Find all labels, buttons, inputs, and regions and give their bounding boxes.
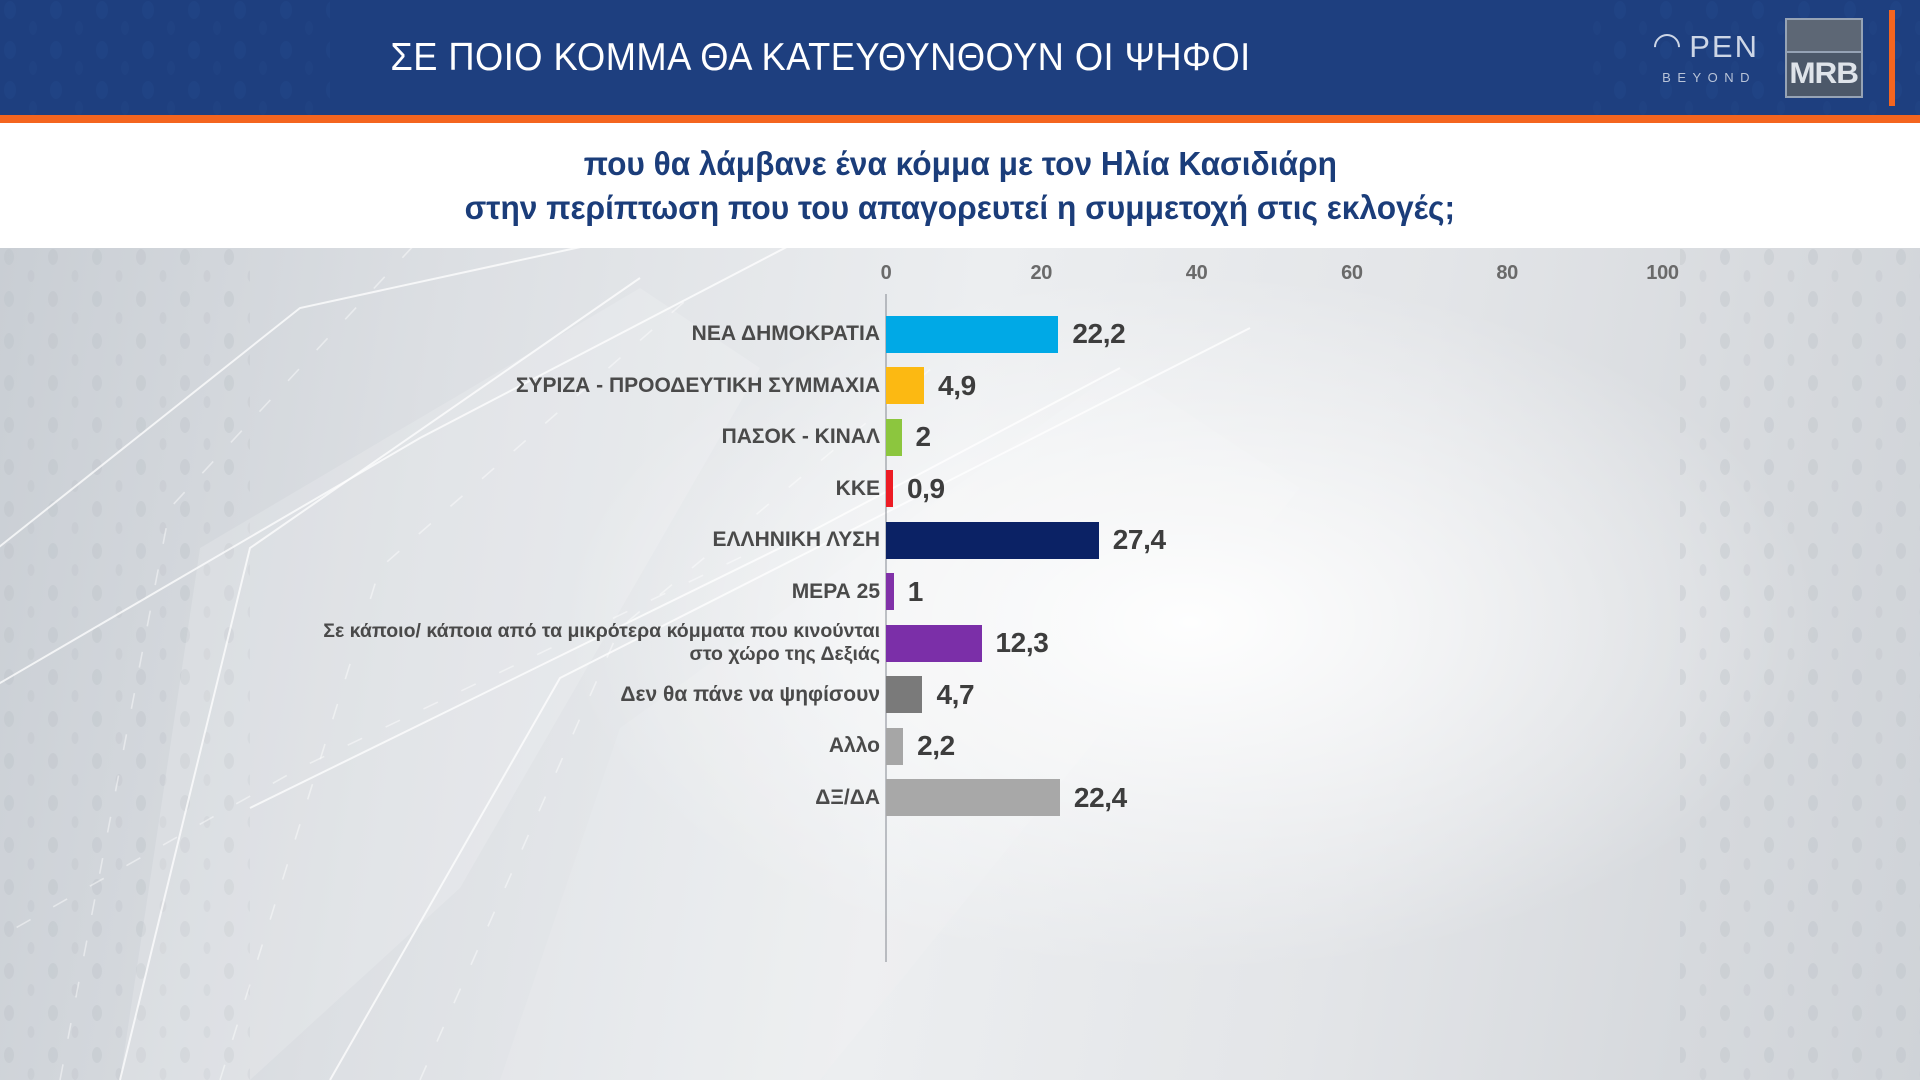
mrb-logo-top-block bbox=[1787, 20, 1861, 53]
mrb-logo-text: MRB bbox=[1790, 57, 1859, 91]
bar-9 bbox=[886, 728, 903, 765]
bar-value-label: 22,2 bbox=[1072, 316, 1125, 353]
bar-value-label: 4,7 bbox=[936, 676, 974, 713]
bar-2 bbox=[886, 367, 924, 404]
subtitle-line-1: που θα λάμβανε ένα κόμμα με τον Ηλία Κασ… bbox=[583, 142, 1336, 186]
bar-row: ΕΛΛΗΝΙΚΗ ΛΥΣΗ27,4 bbox=[0, 514, 1920, 566]
bar-1 bbox=[886, 316, 1058, 353]
bar-row: ΝΕΑ ΔΗΜΟΚΡΑΤΙΑ22,2 bbox=[0, 308, 1920, 360]
orange-accent-tick bbox=[1889, 10, 1895, 106]
bar-7 bbox=[886, 625, 982, 662]
bar-row: ΔΞ/ΔΑ22,4 bbox=[0, 772, 1920, 824]
bar-4 bbox=[886, 470, 893, 507]
bar-row-label: ΣΥΡΙΖΑ - ΠΡΟΟΔΕΥΤΙΚΗ ΣΥΜΜΑΧΙΑ bbox=[120, 373, 880, 398]
x-tick-0: 0 bbox=[881, 262, 892, 285]
bar-row-label: ΚΚΕ bbox=[120, 476, 880, 501]
mrb-logo: MRB bbox=[1785, 18, 1863, 98]
logo-group: PEN BEYOND MRB bbox=[1654, 0, 1895, 115]
open-logo-wordmark: PEN bbox=[1654, 31, 1759, 62]
bar-value-label: 1 bbox=[908, 573, 923, 610]
bar-value-label: 2 bbox=[916, 419, 931, 456]
bar-row-label: ΕΛΛΗΝΙΚΗ ΛΥΣΗ bbox=[120, 527, 880, 552]
bar-row: Σε κάποιο/ κάποια από τα μικρότερα κόμμα… bbox=[0, 617, 1920, 669]
bar-row: Αλλο2,2 bbox=[0, 720, 1920, 772]
x-tick-40: 40 bbox=[1186, 262, 1208, 285]
orange-divider bbox=[0, 115, 1920, 123]
bar-row-label: Δεν θα πάνε να ψηφίσουν bbox=[120, 682, 880, 707]
open-logo-text: PEN bbox=[1689, 31, 1759, 62]
bar-row-label: Σε κάποιο/ κάποια από τα μικρότερα κόμμα… bbox=[120, 620, 880, 667]
bar-value-label: 2,2 bbox=[917, 728, 955, 765]
x-tick-80: 80 bbox=[1496, 262, 1518, 285]
beyond-logo-text: BEYOND bbox=[1657, 71, 1756, 84]
bar-row: ΚΚΕ0,9 bbox=[0, 463, 1920, 515]
open-beyond-logo: PEN BEYOND bbox=[1654, 31, 1759, 84]
bar-row-label: ΔΞ/ΔΑ bbox=[120, 785, 880, 810]
subtitle-line-2: στην περίπτωση που του απαγορευτεί η συμ… bbox=[465, 186, 1455, 230]
bar-10 bbox=[886, 779, 1060, 816]
bar-row: ΜΕΡΑ 251 bbox=[0, 566, 1920, 618]
header-bar: ΣΕ ΠΟΙΟ ΚΟΜΜΑ ΘΑ ΚΑΤΕΥΘΥΝΘΟΥΝ ΟΙ ΨΗΦΟΙ P… bbox=[0, 0, 1920, 115]
x-tick-100: 100 bbox=[1646, 262, 1678, 285]
subtitle-block: που θα λάμβανε ένα κόμμα με τον Ηλία Κασ… bbox=[0, 123, 1920, 248]
open-circle-icon bbox=[1649, 28, 1686, 65]
bar-value-label: 0,9 bbox=[907, 470, 945, 507]
bar-8 bbox=[886, 676, 922, 713]
chart-area: 020406080100 ΝΕΑ ΔΗΜΟΚΡΑΤΙΑ22,2ΣΥΡΙΖΑ - … bbox=[0, 248, 1920, 1080]
plot-region: 020406080100 ΝΕΑ ΔΗΜΟΚΡΑΤΙΑ22,2ΣΥΡΙΖΑ - … bbox=[0, 248, 1920, 1080]
bar-5 bbox=[886, 522, 1099, 559]
bar-row-label: ΜΕΡΑ 25 bbox=[120, 579, 880, 604]
bar-row-label: ΠΑΣΟΚ - ΚΙΝΑΛ bbox=[120, 424, 880, 449]
bar-row: ΠΑΣΟΚ - ΚΙΝΑΛ2 bbox=[0, 411, 1920, 463]
bar-row-label-line: Σε κάποιο/ κάποια από τα μικρότερα κόμμα… bbox=[120, 620, 880, 643]
bar-value-label: 22,4 bbox=[1074, 779, 1127, 816]
x-tick-20: 20 bbox=[1030, 262, 1052, 285]
page-title: ΣΕ ΠΟΙΟ ΚΟΜΜΑ ΘΑ ΚΑΤΕΥΘΥΝΘΟΥΝ ΟΙ ΨΗΦΟΙ bbox=[67, 0, 1853, 115]
bar-6 bbox=[886, 573, 894, 610]
bar-value-label: 27,4 bbox=[1113, 522, 1166, 559]
bar-value-label: 4,9 bbox=[938, 367, 976, 404]
bar-value-label: 12,3 bbox=[996, 625, 1049, 662]
bar-row-label: Αλλο bbox=[120, 733, 880, 758]
bar-row: ΣΥΡΙΖΑ - ΠΡΟΟΔΕΥΤΙΚΗ ΣΥΜΜΑΧΙΑ4,9 bbox=[0, 360, 1920, 412]
bar-row-label-line: στο χώρο της Δεξιάς bbox=[120, 643, 880, 666]
x-tick-60: 60 bbox=[1341, 262, 1363, 285]
bar-3 bbox=[886, 419, 902, 456]
mrb-logo-bottom-block: MRB bbox=[1787, 53, 1861, 96]
bar-row: Δεν θα πάνε να ψηφίσουν4,7 bbox=[0, 669, 1920, 721]
bar-row-label: ΝΕΑ ΔΗΜΟΚΡΑΤΙΑ bbox=[120, 321, 880, 346]
